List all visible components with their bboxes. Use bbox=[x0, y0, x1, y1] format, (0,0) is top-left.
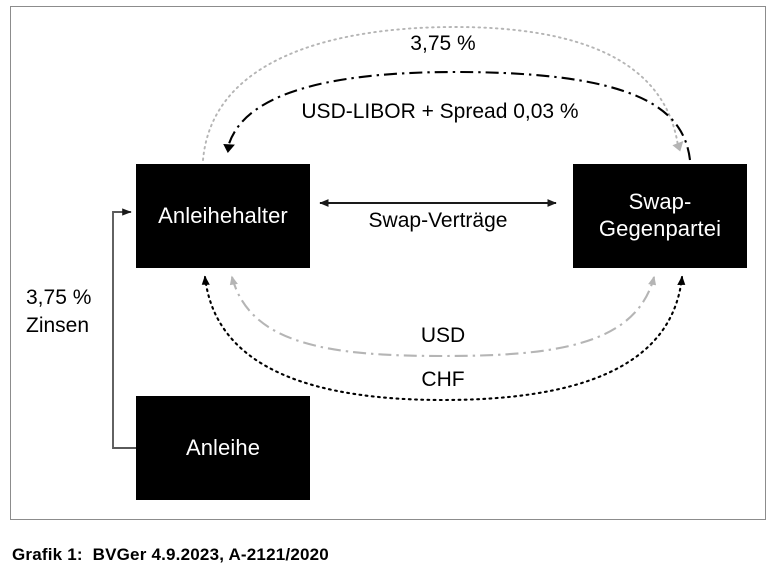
edge-label-rate-top: 3,75 % bbox=[410, 32, 475, 56]
figure-caption: Grafik 1: BVGer 4.9.2023, A-2121/2020 bbox=[12, 545, 329, 565]
edge-label-chf: CHF bbox=[421, 368, 464, 392]
node-anleihehalter[interactable]: Anleihehalter bbox=[136, 164, 310, 268]
node-anleihe-label: Anleihe bbox=[186, 435, 260, 462]
edge-label-usd-libor: USD-LIBOR + Spread 0,03 % bbox=[301, 100, 578, 124]
figure-screenshot: Anleihehalter Swap- Gegenpartei Anleihe … bbox=[0, 0, 776, 585]
node-anleihehalter-label: Anleihehalter bbox=[158, 203, 288, 230]
edge-label-swap-vertraege: Swap-Verträge bbox=[369, 209, 508, 233]
edge-label-zinsen: 3,75 % Zinsen bbox=[26, 284, 91, 340]
node-swap-gegenpartei-label: Swap- Gegenpartei bbox=[599, 189, 721, 243]
node-anleihe[interactable]: Anleihe bbox=[136, 396, 310, 500]
edge-label-usd: USD bbox=[421, 324, 465, 348]
node-swap-gegenpartei[interactable]: Swap- Gegenpartei bbox=[573, 164, 747, 268]
